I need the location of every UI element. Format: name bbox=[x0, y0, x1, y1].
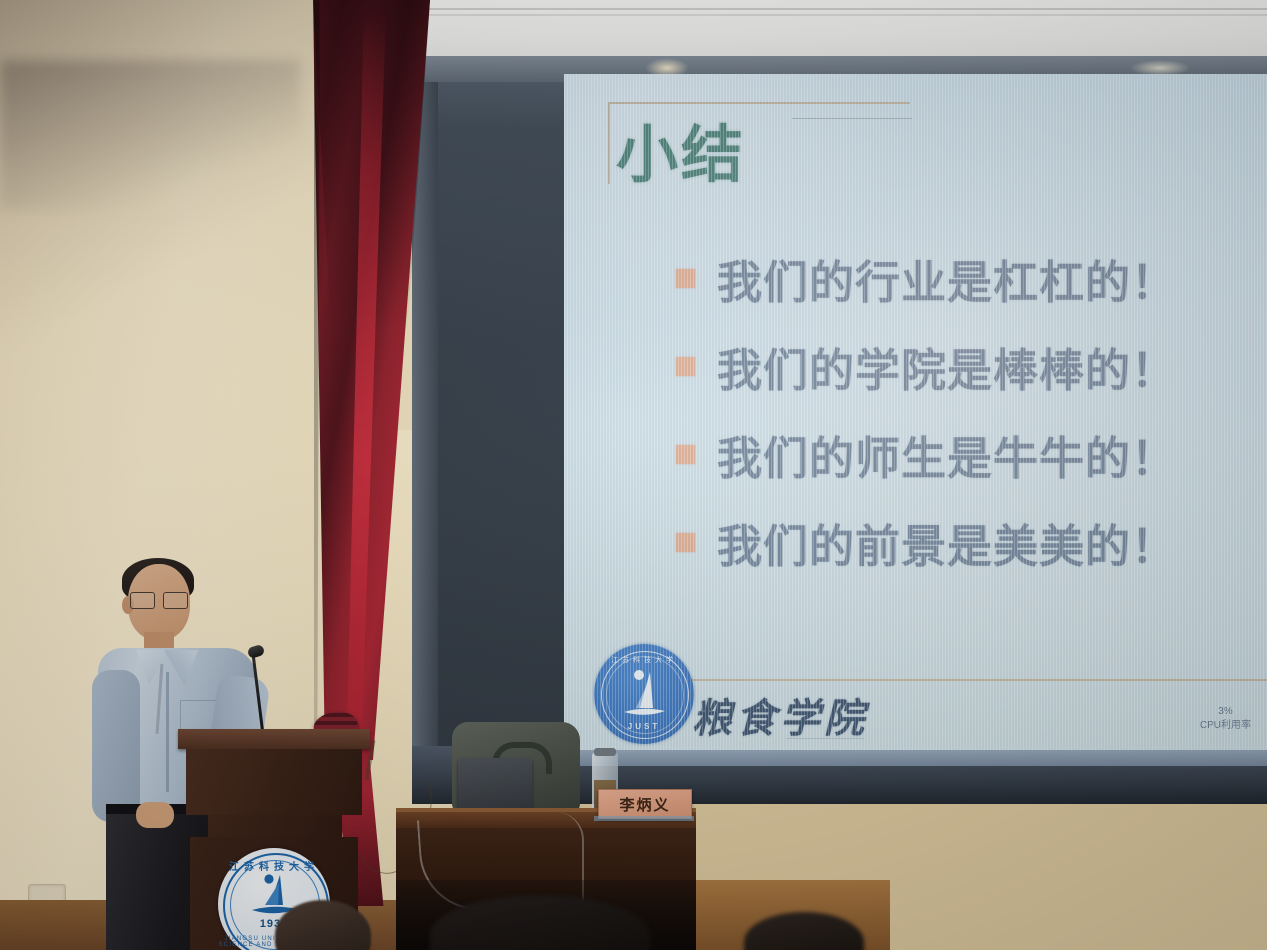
laptop bbox=[458, 758, 532, 814]
logo-name-cn: 江苏科技大学 bbox=[594, 655, 694, 665]
shirt-placket bbox=[166, 672, 169, 792]
bullet-square-icon bbox=[676, 357, 695, 376]
cpu-usage-overlay: 3% CPU利用率 bbox=[1200, 705, 1251, 732]
slide-bullet-list: 我们的行业是杠杠的！ 我们的学院是棒棒的！ 我们的师生是牛牛的！ 我们的前景是美… bbox=[676, 234, 1256, 586]
name-plate-text: 李炳义 bbox=[619, 794, 670, 815]
presenter-hand-left bbox=[136, 802, 174, 828]
podium-neck bbox=[208, 815, 342, 837]
university-logo-icon: 江苏科技大学 JUST bbox=[594, 644, 694, 744]
soffit-edge-line bbox=[398, 8, 1267, 10]
bottle-cap bbox=[594, 748, 616, 756]
bullet-text: 我们的前景是美美的！ bbox=[717, 510, 1177, 575]
projected-slide: 小结 我们的行业是杠杠的！ 我们的学院是棒棒的！ 我们的师生是牛牛的！ 我们的前… bbox=[564, 74, 1267, 750]
bullet-square-icon bbox=[676, 445, 695, 464]
title-rule-line bbox=[792, 118, 912, 119]
bullet-text: 我们的师生是牛牛的！ bbox=[717, 422, 1177, 487]
logo-name-en: JUST bbox=[594, 722, 694, 731]
slide-footer-rule bbox=[648, 679, 1267, 681]
slide-title: 小结 bbox=[616, 104, 746, 194]
list-item: 我们的前景是美美的！ bbox=[676, 498, 1256, 586]
emblem-name-cn: 江苏科技大学 bbox=[218, 858, 330, 873]
presenter-arm-left bbox=[92, 670, 140, 822]
blackboard-left-strip bbox=[412, 82, 438, 786]
list-item: 我们的学院是棒棒的！ bbox=[676, 322, 1256, 410]
bullet-text: 我们的学院是棒棒的！ bbox=[717, 334, 1177, 399]
list-item: 我们的师生是牛牛的！ bbox=[676, 410, 1256, 498]
glasses-icon bbox=[130, 592, 188, 607]
college-name: 粮食学院 bbox=[692, 686, 868, 744]
cpu-label: CPU利用率 bbox=[1200, 719, 1251, 733]
bullet-square-icon bbox=[676, 533, 695, 552]
soffit-lip bbox=[420, 14, 1267, 58]
name-plate-base bbox=[594, 816, 694, 821]
sailboat-icon bbox=[620, 668, 668, 724]
podium-desktop bbox=[178, 729, 370, 749]
name-plate: 李炳义 bbox=[598, 789, 692, 819]
desktop-taskbar-sliver bbox=[564, 750, 1267, 766]
cpu-percent: 3% bbox=[1200, 705, 1251, 719]
list-item: 我们的行业是杠杠的！ bbox=[676, 234, 1256, 322]
bullet-text: 我们的行业是杠杠的！ bbox=[717, 246, 1177, 311]
bullet-square-icon bbox=[676, 269, 695, 288]
lecture-photo-scene: 小结 我们的行业是杠杠的！ 我们的学院是棒棒的！ 我们的师生是牛牛的！ 我们的前… bbox=[0, 0, 1267, 950]
wall-shadow bbox=[0, 60, 300, 210]
podium-body bbox=[186, 749, 362, 815]
